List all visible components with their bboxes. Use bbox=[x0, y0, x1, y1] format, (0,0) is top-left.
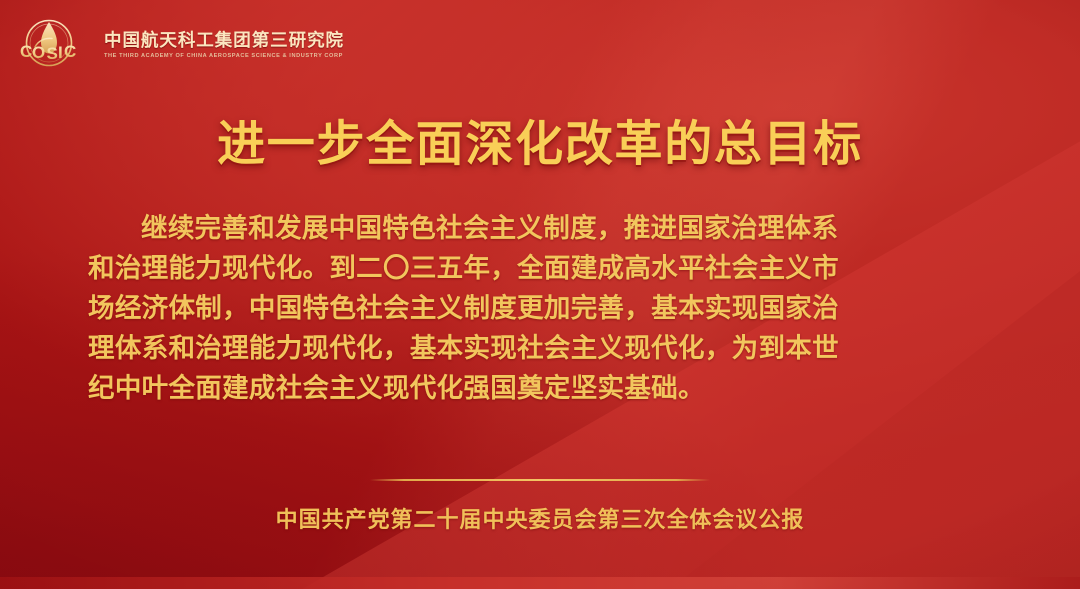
brand-text-block: 中国航天科工集团第三研究院 THE THIRD ACADEMY OF CHINA… bbox=[104, 28, 344, 60]
body-line: 继续完善和发展中国特色社会主义制度，推进国家治理体系 bbox=[88, 208, 996, 248]
casic-emblem-icon: C O S I C bbox=[18, 14, 92, 74]
brand-name-en: THE THIRD ACADEMY OF CHINA AEROSPACE SCI… bbox=[104, 53, 344, 60]
brand-name-cn: 中国航天科工集团第三研究院 bbox=[104, 30, 344, 51]
page-title: 进一步全面深化改革的总目标 bbox=[0, 104, 1080, 174]
body-line: 场经济体制，中国特色社会主义制度更加完善，基本实现国家治 bbox=[88, 288, 996, 328]
svg-text:I: I bbox=[58, 43, 62, 62]
footer-divider bbox=[370, 479, 710, 481]
source-attribution: 中国共产党第二十届中央委员会第三次全体会议公报 bbox=[0, 502, 1080, 534]
brand-lockup: C O S I C 中国航天科工集团第三研究院 THE THIRD ACADEM… bbox=[18, 14, 344, 74]
body-line: 和治理能力现代化。到二〇三五年，全面建成高水平社会主义市 bbox=[88, 248, 996, 288]
body-line: 理体系和治理能力现代化，基本实现社会主义现代化，为到本世 bbox=[88, 328, 996, 368]
svg-text:O: O bbox=[32, 43, 45, 62]
svg-text:C: C bbox=[20, 42, 32, 61]
poster-canvas: C O S I C 中国航天科工集团第三研究院 THE THIRD ACADEM… bbox=[0, 0, 1080, 589]
svg-text:S: S bbox=[47, 44, 58, 63]
body-line: 纪中叶全面建成社会主义现代化强国奠定坚实基础。 bbox=[88, 368, 996, 408]
svg-text:C: C bbox=[64, 42, 76, 61]
body-paragraph: 继续完善和发展中国特色社会主义制度，推进国家治理体系 和治理能力现代化。到二〇三… bbox=[88, 208, 996, 408]
